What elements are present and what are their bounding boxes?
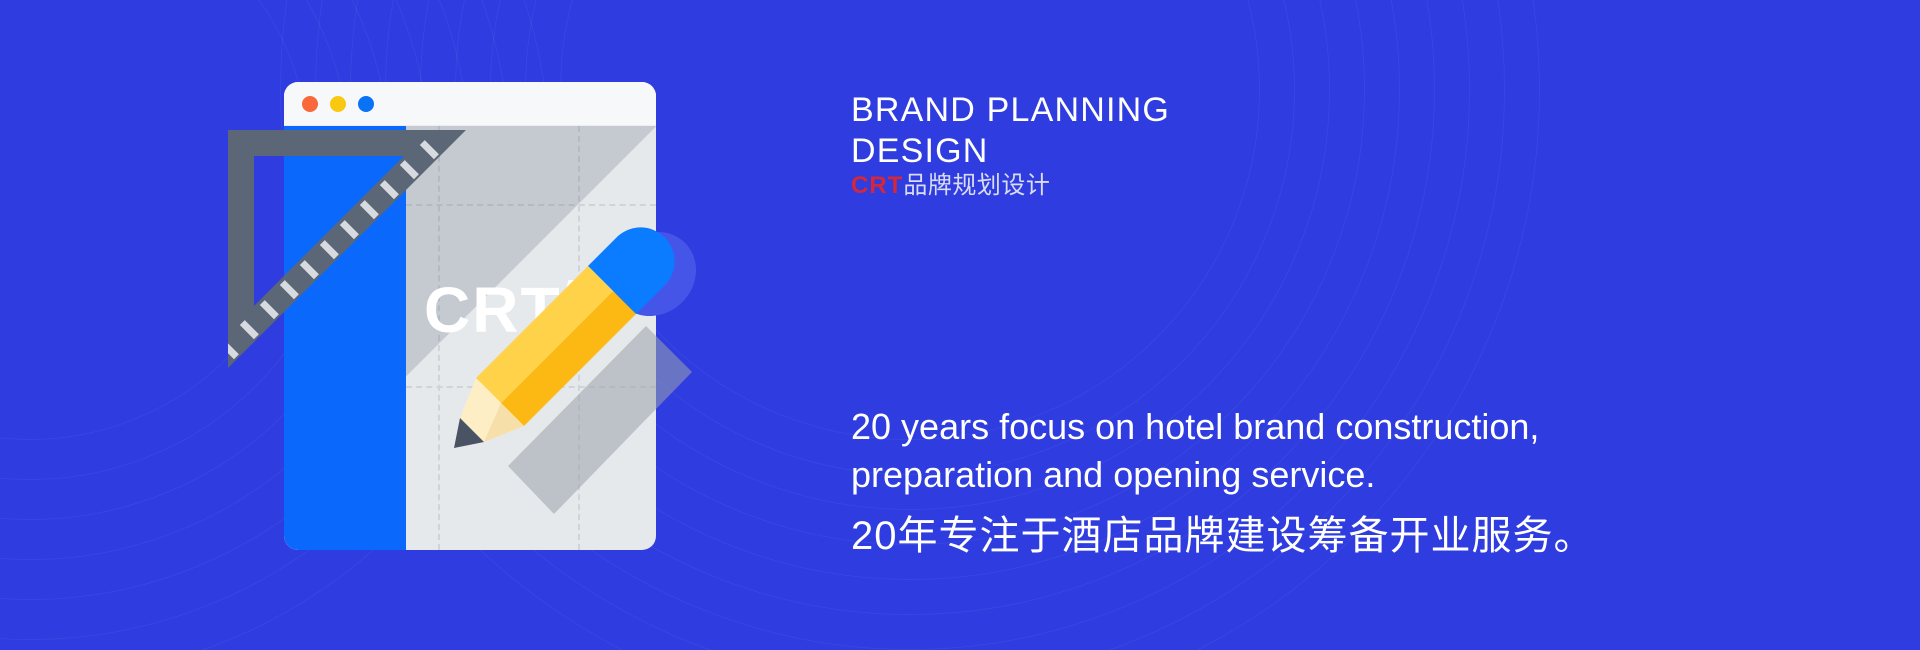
triangle-ruler [228,130,478,380]
subtitle: CRT品牌规划设计 [851,170,1050,201]
banner: CRT [0,0,1920,650]
lede-text-cn: 20年专注于酒店品牌建设筹备开业服务。 [851,510,1595,562]
subtitle-text: 品牌规划设计 [903,172,1050,199]
close-dot[interactable] [302,96,318,112]
window-controls [302,96,374,112]
subtitle-brand: CRT [851,172,903,199]
minimize-dot[interactable] [330,96,346,112]
copy-block: BRAND PLANNING DESIGN CRT品牌规划设计 20 years… [851,0,1851,650]
pencil [450,230,720,540]
lede-text: 20 years focus on hotel brand constructi… [851,403,1671,499]
page-title: BRAND PLANNING DESIGN [851,90,1170,173]
brand-design-illustration: CRT [228,82,688,552]
window-titlebar [284,82,656,126]
maximize-dot[interactable] [358,96,374,112]
